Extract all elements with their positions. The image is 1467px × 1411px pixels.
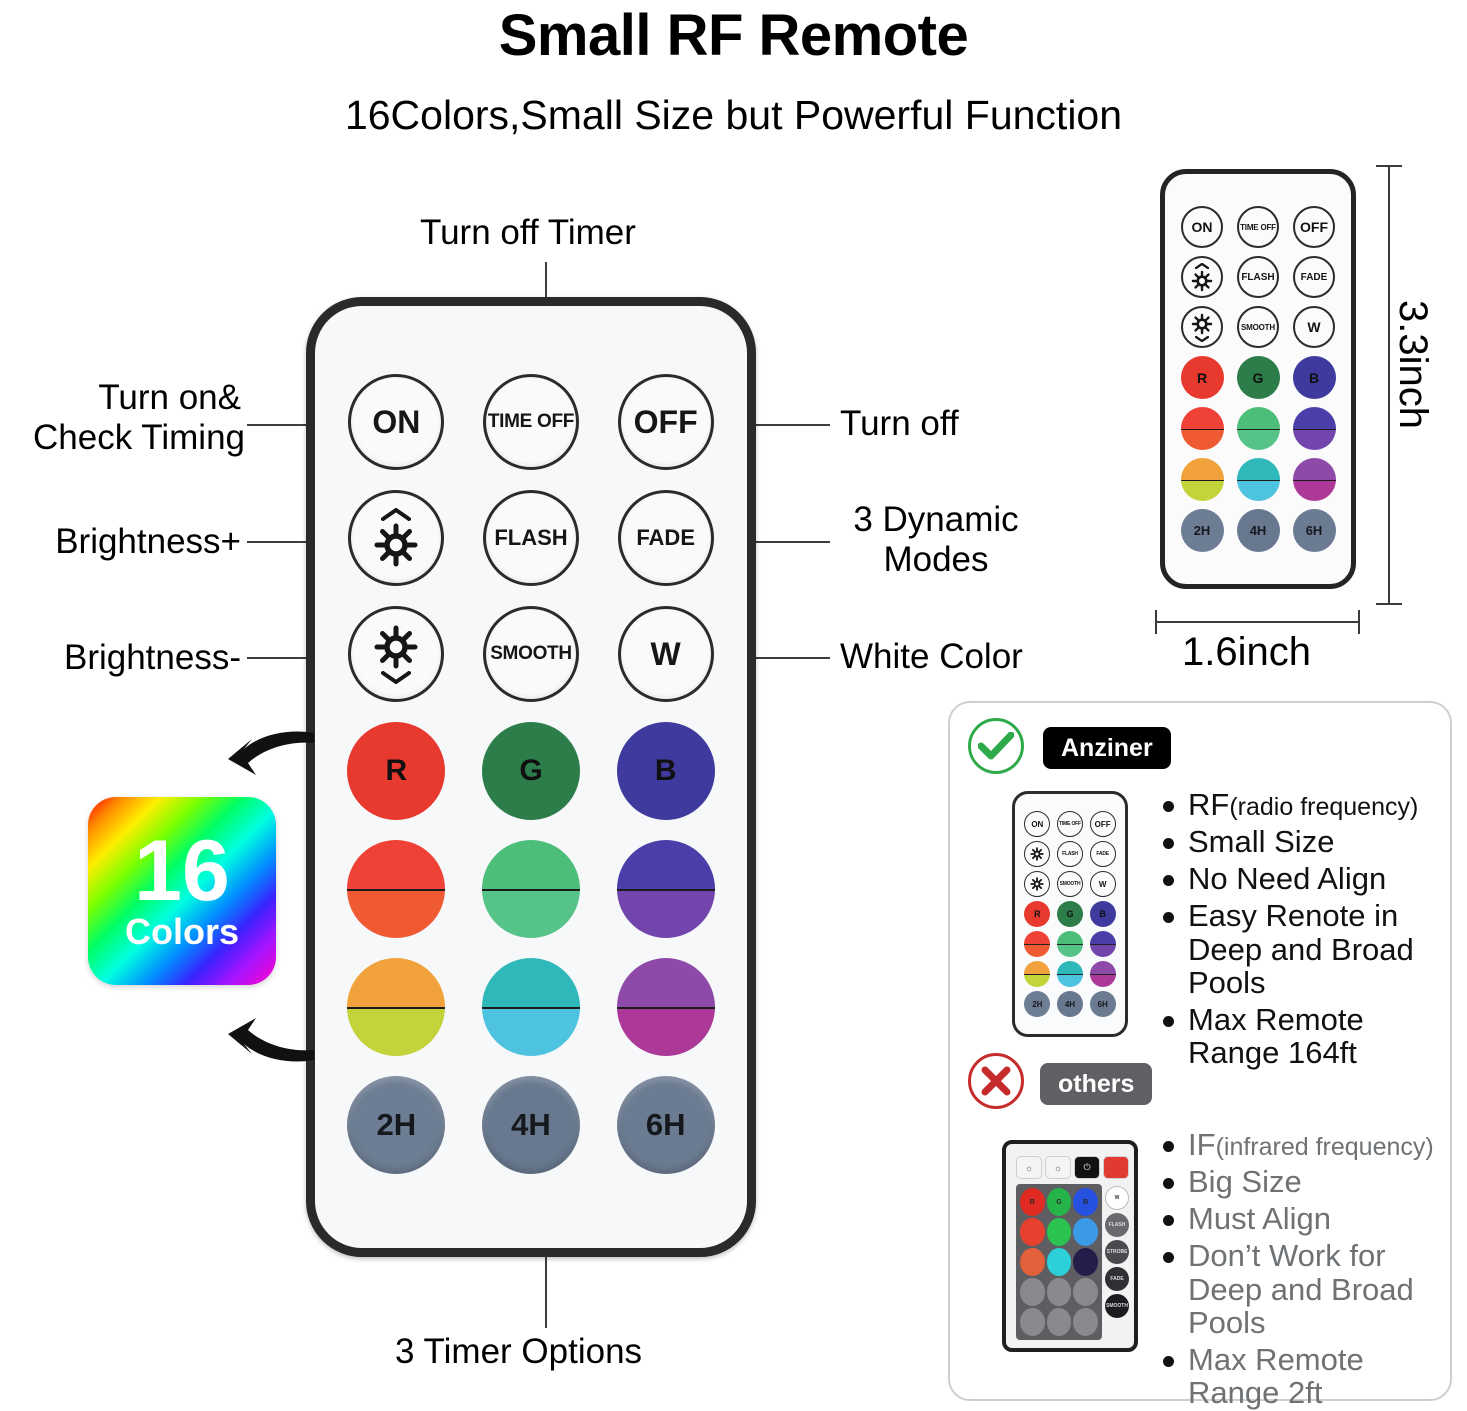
swatch-top — [1237, 458, 1280, 480]
swatch-top — [1090, 961, 1116, 974]
infographic-page: Small RF Remote 16Colors,Small Size but … — [0, 0, 1467, 1411]
color-label: R — [1034, 909, 1041, 919]
bullet-text: Max Remote Range 2ft — [1188, 1343, 1455, 1409]
button-color-3-1[interactable] — [347, 958, 445, 1056]
check-icon — [968, 718, 1024, 774]
mini-button-white: W — [1090, 871, 1116, 897]
small-button-brightness-up[interactable] — [1181, 256, 1223, 298]
swatch-bottom — [1057, 974, 1083, 987]
callout-brightness-up: Brightness+ — [33, 522, 241, 562]
swatch-bottom — [1181, 429, 1224, 451]
ir-top-row: ☼ ☼ ⏻ — [1016, 1155, 1130, 1180]
ir-key-flash: FLASH — [1105, 1213, 1129, 1237]
mini-button-on: ON — [1024, 811, 1050, 837]
swatch-bottom — [482, 889, 580, 938]
ir-key-red2 — [1020, 1218, 1045, 1246]
swatch-bottom — [1293, 480, 1336, 502]
dim-height-label: 3.3inch — [1390, 300, 1435, 429]
mini-button-color-b: B — [1090, 901, 1116, 927]
small-button-color-2-1[interactable] — [1181, 407, 1224, 450]
mini-button-color-3-2 — [1057, 961, 1083, 987]
badge-colors-label: Colors — [125, 914, 239, 950]
bullet-text: Big Size — [1188, 1165, 1302, 1198]
ir-key-g2 — [1047, 1278, 1072, 1306]
swatch-bottom — [1024, 974, 1050, 987]
ir-key-orange — [1020, 1248, 1045, 1276]
cross-icon — [968, 1053, 1024, 1109]
color-label: G — [519, 754, 542, 788]
swatch-top — [482, 958, 580, 1007]
list-item: Easy Renote in Deep and Broad Pools — [1163, 899, 1451, 998]
mini-button-color-3-1 — [1024, 961, 1050, 987]
swatch-bottom — [347, 1007, 445, 1056]
rf-remote-large: ON TIME OFF OFF FLASH FADE SMOOTH W — [306, 297, 756, 1257]
swatch-bottom — [1237, 429, 1280, 451]
ir-key-w: W — [1105, 1186, 1129, 1210]
mini-button-color-g: G — [1057, 901, 1083, 927]
mini-button-timer-2h: 2H — [1024, 991, 1050, 1017]
bullet-text: Easy Renote in Deep and Broad Pools — [1188, 899, 1451, 998]
button-timer-6h[interactable]: 6H — [617, 1076, 715, 1174]
ir-key-fade: FADE — [1105, 1267, 1129, 1291]
ir-keypad: R G B — [1016, 1184, 1102, 1340]
swatch-top — [347, 958, 445, 1007]
small-button-timer-4h[interactable]: 4H — [1237, 509, 1280, 552]
small-button-color-b[interactable]: B — [1293, 356, 1336, 399]
dim-width-tick-right — [1358, 610, 1360, 634]
mini-button-color-2-1 — [1024, 931, 1050, 957]
small-button-flash[interactable]: FLASH — [1237, 256, 1279, 298]
color-label: G — [1253, 370, 1264, 386]
ir-key-brightness-down-icon: ☼ — [1045, 1156, 1071, 1179]
dim-height-tick-bottom — [1376, 603, 1402, 605]
button-color-b[interactable]: B — [617, 722, 715, 820]
button-off[interactable]: OFF — [618, 374, 714, 470]
swatch-top — [1057, 931, 1083, 944]
list-item: Don’t Work for Deep and Broad Pools — [1163, 1239, 1455, 1338]
mini-rf-remote: ON TIME OFF OFF FLASH FADE SMOOTH W R G — [1012, 791, 1128, 1037]
ir-right-column: W FLASH STROBE FADE SMOOTH — [1105, 1184, 1132, 1340]
bullet-dot — [1163, 875, 1174, 886]
callout-turn-off-timer: Turn off Timer — [420, 213, 636, 253]
small-button-color-2-3[interactable] — [1293, 407, 1336, 450]
list-item: Small Size — [1163, 825, 1451, 858]
small-button-fade[interactable]: FADE — [1293, 256, 1335, 298]
mini-button-flash: FLASH — [1057, 841, 1083, 867]
button-timer-2h[interactable]: 2H — [347, 1076, 445, 1174]
mini-button-smooth: SMOOTH — [1057, 871, 1083, 897]
mini-button-color-3-3 — [1090, 961, 1116, 987]
ir-key-brightness-up-icon: ☼ — [1016, 1156, 1042, 1179]
dim-width-line — [1155, 621, 1360, 623]
ir-key-strobe: STROBE — [1105, 1240, 1129, 1264]
dim-width-tick-left — [1155, 610, 1157, 634]
swatch-top — [1090, 931, 1116, 944]
callout-timer-options: 3 Timer Options — [395, 1332, 642, 1372]
button-color-2-1[interactable] — [347, 840, 445, 938]
bullet-dot — [1163, 1215, 1174, 1226]
bullet-dot — [1163, 1252, 1174, 1263]
small-button-off[interactable]: OFF — [1293, 206, 1335, 248]
badge-number: 16 — [134, 832, 230, 911]
list-item: Max Remote Range 2ft — [1163, 1343, 1455, 1409]
list-item: IF(infrared frequency) — [1163, 1128, 1455, 1161]
bullet-dot — [1163, 1356, 1174, 1367]
sixteen-colors-badge: 16 Colors — [88, 797, 276, 985]
mini-button-off: OFF — [1090, 811, 1116, 837]
ir-key-g5 — [1047, 1308, 1072, 1336]
swatch-bottom — [1057, 944, 1083, 957]
button-time-off[interactable]: TIME OFF — [483, 374, 579, 470]
list-item: No Need Align — [1163, 862, 1451, 895]
button-color-2-2[interactable] — [482, 840, 580, 938]
color-label: B — [1099, 909, 1106, 919]
small-button-brightness-down[interactable] — [1181, 306, 1223, 348]
swatch-bottom — [1090, 944, 1116, 957]
swatch-top — [347, 840, 445, 889]
button-color-g[interactable]: G — [482, 722, 580, 820]
small-button-timer-2h[interactable]: 2H — [1181, 509, 1224, 552]
mini-button-timer-4h: 4H — [1057, 991, 1083, 1017]
page-title: Small RF Remote — [0, 2, 1467, 69]
color-label: R — [1197, 370, 1207, 386]
bullet-dot — [1163, 838, 1174, 849]
ir-key-navy — [1073, 1248, 1098, 1276]
mini-rf-grid: ON TIME OFF OFF FLASH FADE SMOOTH W R G — [1015, 811, 1125, 1017]
ir-key-smooth: SMOOTH — [1105, 1294, 1129, 1318]
bullet-dot — [1163, 912, 1174, 923]
color-label: G — [1066, 909, 1073, 919]
callout-dynamic-modes: 3 Dynamic Modes — [836, 500, 1036, 580]
arrow-to-colors-top-icon — [222, 727, 316, 791]
button-color-3-3[interactable] — [617, 958, 715, 1056]
callout-turn-on-check-timing: Turn on& Check Timing — [33, 378, 241, 458]
swatch-top — [482, 840, 580, 889]
bullet-dot — [1163, 1178, 1174, 1189]
ir-key-green2 — [1047, 1218, 1072, 1246]
swatch-top — [1057, 961, 1083, 974]
mini-button-color-2-2 — [1057, 931, 1083, 957]
small-button-color-3-3[interactable] — [1293, 458, 1336, 501]
swatch-top — [1293, 458, 1336, 480]
swatch-bottom — [1293, 429, 1336, 451]
bullet-dot — [1163, 801, 1174, 812]
button-white[interactable]: W — [618, 606, 714, 702]
bullet-text: Small Size — [1188, 825, 1334, 858]
good-bullet-list: RF(radio frequency) Small Size No Need A… — [1163, 788, 1451, 1073]
page-subtitle: 16Colors,Small Size but Powerful Functio… — [0, 92, 1467, 139]
swatch-bottom — [482, 1007, 580, 1056]
swatch-top — [617, 840, 715, 889]
swatch-top — [1024, 931, 1050, 944]
badge-others: others — [1040, 1063, 1152, 1105]
brightness-up-icon — [373, 508, 419, 568]
callout-white-color: White Color — [840, 637, 1023, 677]
small-button-white[interactable]: W — [1293, 306, 1335, 348]
ir-key-blue2 — [1073, 1218, 1098, 1246]
button-color-2-3[interactable] — [617, 840, 715, 938]
swatch-bottom — [1024, 944, 1050, 957]
bullet-dot — [1163, 1016, 1174, 1027]
brightness-down-icon — [373, 624, 419, 684]
ir-key-g6 — [1073, 1308, 1098, 1336]
swatch-bottom — [347, 889, 445, 938]
ir-key-b: B — [1073, 1188, 1098, 1216]
mini-button-brightness-up — [1024, 841, 1050, 867]
mini-button-color-2-3 — [1090, 931, 1116, 957]
dim-height-tick-top — [1376, 165, 1402, 167]
ir-key-off-icon: ⏻ — [1074, 1156, 1100, 1179]
mini-button-fade: FADE — [1090, 841, 1116, 867]
swatch-top — [1237, 407, 1280, 429]
remote-button-grid: ON TIME OFF OFF FLASH FADE SMOOTH W — [315, 374, 747, 1174]
button-timer-4h[interactable]: 4H — [482, 1076, 580, 1174]
small-button-color-3-1[interactable] — [1181, 458, 1224, 501]
swatch-bottom — [1181, 480, 1224, 502]
button-brightness-up[interactable] — [348, 490, 444, 586]
list-item: RF(radio frequency) — [1163, 788, 1451, 821]
small-button-time-off[interactable]: TIME OFF — [1237, 206, 1279, 248]
list-item: Max Remote Range 164ft — [1163, 1003, 1451, 1069]
callout-turn-off: Turn off — [840, 404, 959, 444]
list-item: Must Align — [1163, 1202, 1455, 1235]
ir-key-g1 — [1020, 1278, 1045, 1306]
mini-ir-remote: ☼ ☼ ⏻ R G B W FLASH STROBE FADE — [1002, 1140, 1138, 1352]
color-label: R — [385, 754, 407, 788]
small-button-timer-6h[interactable]: 6H — [1293, 509, 1336, 552]
badge-anziner: Anziner — [1043, 727, 1171, 769]
color-label: B — [1309, 370, 1319, 386]
mini-button-color-r: R — [1024, 901, 1050, 927]
swatch-bottom — [617, 889, 715, 938]
arrow-to-colors-bottom-icon — [222, 1002, 316, 1066]
bullet-text: RF(radio frequency) — [1188, 788, 1418, 821]
swatch-bottom — [1090, 974, 1116, 987]
button-smooth[interactable]: SMOOTH — [483, 606, 579, 702]
swatch-top — [617, 958, 715, 1007]
ir-key-on-icon — [1103, 1156, 1129, 1179]
swatch-top — [1181, 407, 1224, 429]
callout-brightness-down: Brightness- — [33, 638, 241, 678]
ir-key-g: G — [1047, 1188, 1072, 1216]
remote-small-grid: ON TIME OFF OFF FLASH FADE SMOOTH W — [1165, 206, 1351, 552]
button-color-3-2[interactable] — [482, 958, 580, 1056]
brightness-up-icon — [1191, 263, 1213, 292]
mini-button-timer-6h: 6H — [1090, 991, 1116, 1017]
swatch-top — [1293, 407, 1336, 429]
button-fade[interactable]: FADE — [618, 490, 714, 586]
small-button-color-g[interactable]: G — [1237, 356, 1280, 399]
dim-width-label: 1.6inch — [1182, 630, 1311, 675]
button-color-r[interactable]: R — [347, 722, 445, 820]
color-label: B — [655, 754, 677, 788]
swatch-bottom — [1237, 480, 1280, 502]
small-button-color-3-2[interactable] — [1237, 458, 1280, 501]
rf-remote-small: ON TIME OFF OFF FLASH FADE SMOOTH W — [1160, 169, 1356, 589]
bad-bullet-list: IF(infrared frequency) Big Size Must Ali… — [1163, 1128, 1455, 1411]
swatch-top — [1024, 961, 1050, 974]
button-flash[interactable]: FLASH — [483, 490, 579, 586]
ir-key-cyan — [1047, 1248, 1072, 1276]
small-button-on[interactable]: ON — [1181, 206, 1223, 248]
small-button-color-r[interactable]: R — [1181, 356, 1224, 399]
bullet-text: No Need Align — [1188, 862, 1386, 895]
list-item: Big Size — [1163, 1165, 1455, 1198]
ir-key-r: R — [1020, 1188, 1045, 1216]
button-on[interactable]: ON — [348, 374, 444, 470]
bullet-text: Must Align — [1188, 1202, 1331, 1235]
ir-key-g4 — [1020, 1308, 1045, 1336]
swatch-bottom — [617, 1007, 715, 1056]
bullet-dot — [1163, 1141, 1174, 1152]
swatch-top — [1181, 458, 1224, 480]
small-button-color-2-2[interactable] — [1237, 407, 1280, 450]
bullet-text: Max Remote Range 164ft — [1188, 1003, 1451, 1069]
small-button-smooth[interactable]: SMOOTH — [1237, 306, 1279, 348]
mini-button-time-off: TIME OFF — [1057, 811, 1083, 837]
ir-key-g3 — [1073, 1278, 1098, 1306]
bullet-text: Don’t Work for Deep and Broad Pools — [1188, 1239, 1455, 1338]
bullet-text: IF(infrared frequency) — [1188, 1128, 1434, 1161]
mini-button-brightness-down — [1024, 871, 1050, 897]
brightness-down-icon — [1191, 313, 1213, 342]
button-brightness-down[interactable] — [348, 606, 444, 702]
